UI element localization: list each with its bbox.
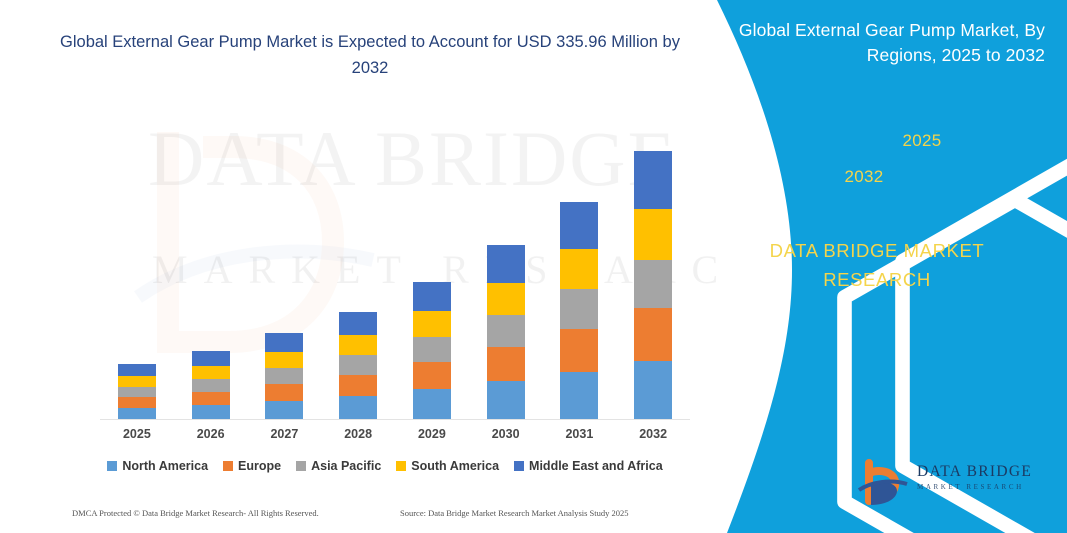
bar-segment-north-america xyxy=(634,361,672,419)
data-bridge-logo-words: DATA BRIDGE MARKET RESEARCH xyxy=(917,463,1032,491)
bar-segment-south-america xyxy=(265,352,303,368)
legend-label: Europe xyxy=(238,459,281,473)
x-axis-line xyxy=(100,419,690,420)
bar-segment-asia-pacific xyxy=(487,315,525,347)
data-bridge-logo: DATA BRIDGE MARKET RESEARCH xyxy=(857,455,1052,511)
bar-segment-middle-east-and-africa xyxy=(487,245,525,283)
legend-swatch-icon xyxy=(514,461,524,471)
hexagon-2032: 2032 xyxy=(825,133,903,221)
bar-2026 xyxy=(192,351,230,419)
bar-segment-middle-east-and-africa xyxy=(413,282,451,312)
bar-segment-europe xyxy=(339,375,377,396)
logo-line-2: MARKET RESEARCH xyxy=(917,483,1032,491)
x-axis-label-2026: 2026 xyxy=(192,427,230,447)
bar-segment-europe xyxy=(560,329,598,372)
bar-segment-south-america xyxy=(487,283,525,316)
bar-segment-north-america xyxy=(560,372,598,419)
logo-line-1: DATA BRIDGE xyxy=(917,463,1032,481)
bar-segment-middle-east-and-africa xyxy=(192,351,230,366)
bar-segment-south-america xyxy=(192,366,230,379)
footer-copyright: DMCA Protected © Data Bridge Market Rese… xyxy=(72,508,319,518)
legend-swatch-icon xyxy=(396,461,406,471)
x-axis-label-2028: 2028 xyxy=(339,427,377,447)
bar-segment-asia-pacific xyxy=(265,368,303,384)
bar-segment-middle-east-and-africa xyxy=(560,202,598,249)
bar-segment-north-america xyxy=(265,401,303,419)
brand-name: DATA BRIDGE MARKET RESEARCH xyxy=(717,237,1037,294)
legend-label: Asia Pacific xyxy=(311,459,381,473)
bar-segment-north-america xyxy=(487,381,525,419)
right-panel: Global External Gear Pump Market, By Reg… xyxy=(687,0,1067,533)
legend-label: Middle East and Africa xyxy=(529,459,663,473)
bar-segment-south-america xyxy=(413,311,451,337)
page-title: Global External Gear Pump Market is Expe… xyxy=(50,30,690,81)
bar-2028 xyxy=(339,312,377,419)
panel-content: Global External Gear Pump Market, By Reg… xyxy=(687,0,1067,533)
bar-2030 xyxy=(487,245,525,419)
x-axis-label-2031: 2031 xyxy=(560,427,598,447)
hexagon-2025-label: 2025 xyxy=(902,131,941,151)
legend-swatch-icon xyxy=(223,461,233,471)
bar-segment-middle-east-and-africa xyxy=(265,333,303,352)
x-axis-label-2027: 2027 xyxy=(265,427,303,447)
bar-segment-asia-pacific xyxy=(118,387,156,397)
bar-segment-europe xyxy=(413,362,451,389)
data-bridge-logo-mark-icon xyxy=(857,457,913,507)
bar-2032 xyxy=(634,151,672,419)
legend-item-south-america[interactable]: South America xyxy=(396,459,499,473)
x-axis-label-2030: 2030 xyxy=(487,427,525,447)
bar-segment-south-america xyxy=(560,249,598,290)
bar-group xyxy=(100,130,690,419)
bar-2025 xyxy=(118,364,156,419)
bar-segment-south-america xyxy=(118,376,156,387)
footer: DMCA Protected © Data Bridge Market Rese… xyxy=(0,508,730,530)
bar-segment-south-america xyxy=(634,209,672,260)
legend-item-asia-pacific[interactable]: Asia Pacific xyxy=(296,459,381,473)
x-axis-label-2025: 2025 xyxy=(118,427,156,447)
bar-segment-asia-pacific xyxy=(339,355,377,375)
panel-title: Global External Gear Pump Market, By Reg… xyxy=(725,18,1045,69)
hexagon-2032-label: 2032 xyxy=(844,167,883,187)
bar-2027 xyxy=(265,333,303,419)
bar-segment-asia-pacific xyxy=(413,337,451,362)
legend-item-europe[interactable]: Europe xyxy=(223,459,281,473)
legend-item-north-america[interactable]: North America xyxy=(107,459,208,473)
bar-segment-europe xyxy=(265,384,303,401)
legend-label: North America xyxy=(122,459,208,473)
stacked-bar-chart xyxy=(100,130,690,420)
bar-segment-south-america xyxy=(339,335,377,355)
chart-legend: North AmericaEuropeAsia PacificSouth Ame… xyxy=(40,455,730,477)
bar-segment-asia-pacific xyxy=(634,260,672,309)
bar-segment-middle-east-and-africa xyxy=(634,151,672,209)
bar-2031 xyxy=(560,202,598,419)
legend-item-middle-east-and-africa[interactable]: Middle East and Africa xyxy=(514,459,663,473)
bar-segment-europe xyxy=(192,392,230,405)
bar-segment-north-america xyxy=(192,405,230,419)
bar-segment-middle-east-and-africa xyxy=(339,312,377,335)
hexagon-group: 2025 2032 xyxy=(787,95,1047,210)
bar-segment-asia-pacific xyxy=(192,379,230,392)
bar-segment-europe xyxy=(118,397,156,408)
bar-segment-north-america xyxy=(339,396,377,419)
infographic-page: DATA BRIDGE MARKET RESEARCH Global Exter… xyxy=(0,0,1067,533)
footer-source: Source: Data Bridge Market Research Mark… xyxy=(400,508,629,518)
legend-swatch-icon xyxy=(107,461,117,471)
chart-area: DATA BRIDGE MARKET RESEARCH Global Exter… xyxy=(0,0,730,533)
x-axis-labels: 20252026202720282029203020312032 xyxy=(100,427,690,447)
bar-segment-north-america xyxy=(413,389,451,419)
bar-segment-europe xyxy=(487,347,525,381)
bar-segment-europe xyxy=(634,308,672,361)
legend-swatch-icon xyxy=(296,461,306,471)
bar-2029 xyxy=(413,282,451,420)
legend-label: South America xyxy=(411,459,499,473)
bar-segment-asia-pacific xyxy=(560,289,598,329)
bar-segment-north-america xyxy=(118,408,156,419)
x-axis-label-2032: 2032 xyxy=(634,427,672,447)
x-axis-label-2029: 2029 xyxy=(413,427,451,447)
bar-segment-middle-east-and-africa xyxy=(118,364,156,376)
